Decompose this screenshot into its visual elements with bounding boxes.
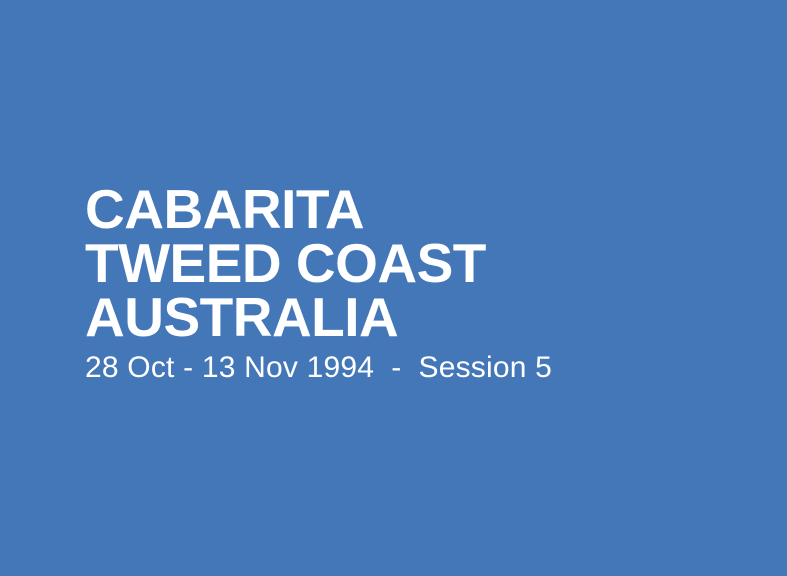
title-block: CABARITA TWEED COAST AUSTRALIA <box>85 182 745 344</box>
title-line-3: AUSTRALIA <box>85 290 745 344</box>
subtitle: 28 Oct - 13 Nov 1994 - Session 5 <box>85 350 552 386</box>
title-line-2: TWEED COAST <box>85 236 745 290</box>
title-line-1: CABARITA <box>85 182 745 236</box>
title-slide: CABARITA TWEED COAST AUSTRALIA 28 Oct - … <box>0 0 787 576</box>
